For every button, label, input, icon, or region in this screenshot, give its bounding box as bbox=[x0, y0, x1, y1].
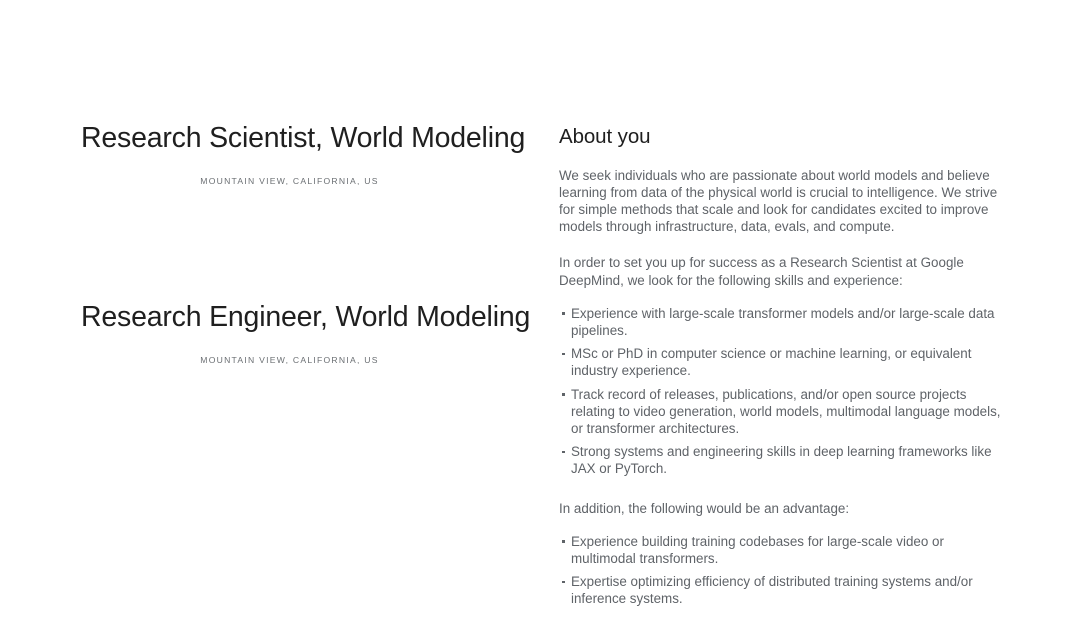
job-posting-page: Research Scientist, World Modeling MOUNT… bbox=[0, 0, 1080, 588]
list-item: Expertise optimizing efficiency of distr… bbox=[559, 573, 1005, 607]
advantages-list: Experience building training codebases f… bbox=[559, 533, 1005, 608]
job-listing-research-scientist[interactable]: Research Scientist, World Modeling MOUNT… bbox=[81, 122, 498, 186]
job-title[interactable]: Research Scientist, World Modeling bbox=[81, 122, 498, 156]
advantage-lead-in-paragraph: In addition, the following would be an a… bbox=[559, 500, 1005, 517]
list-spacer bbox=[559, 493, 1005, 500]
about-you-column: About you We seek individuals who are pa… bbox=[559, 124, 1005, 623]
job-location: MOUNTAIN VIEW, CALIFORNIA, US bbox=[81, 355, 498, 365]
about-intro-paragraph: We seek individuals who are passionate a… bbox=[559, 167, 1005, 236]
skills-list: Experience with large-scale transformer … bbox=[559, 305, 1005, 478]
list-item: MSc or PhD in computer science or machin… bbox=[559, 345, 1005, 379]
skills-lead-in-paragraph: In order to set you up for success as a … bbox=[559, 254, 1005, 288]
list-item: Experience with large-scale transformer … bbox=[559, 305, 1005, 339]
job-listings-column: Research Scientist, World Modeling MOUNT… bbox=[81, 122, 498, 365]
list-item: Track record of releases, publications, … bbox=[559, 386, 1005, 438]
job-title[interactable]: Research Engineer, World Modeling bbox=[81, 301, 498, 335]
job-location: MOUNTAIN VIEW, CALIFORNIA, US bbox=[81, 176, 498, 186]
job-listing-research-engineer[interactable]: Research Engineer, World Modeling MOUNTA… bbox=[81, 301, 498, 365]
list-item: Strong systems and engineering skills in… bbox=[559, 443, 1005, 477]
about-you-heading: About you bbox=[559, 124, 1005, 150]
list-item: Experience building training codebases f… bbox=[559, 533, 1005, 567]
